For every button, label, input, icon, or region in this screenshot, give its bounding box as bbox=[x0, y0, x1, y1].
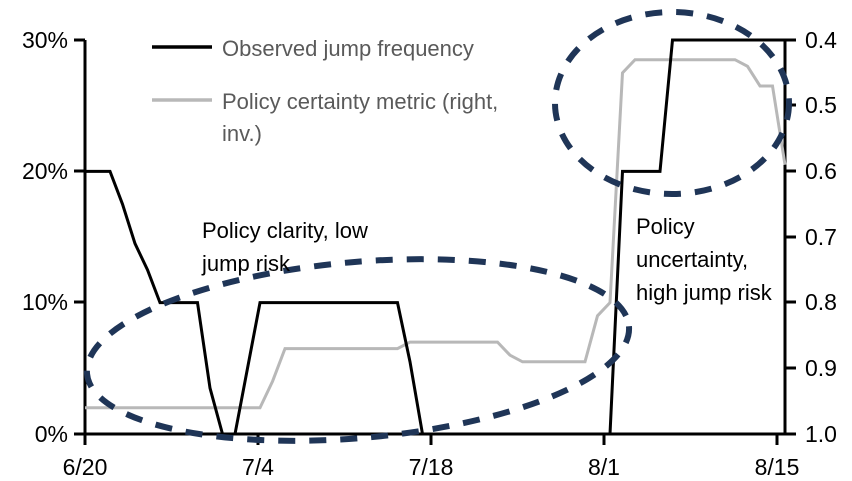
annotation-low-risk-line2: jump risk bbox=[201, 251, 291, 276]
legend-label-observed-jump-frequency: Observed jump frequency bbox=[222, 36, 474, 61]
left-axis-label-30: 30% bbox=[22, 27, 68, 53]
right-axis-label-4: 0.8 bbox=[805, 289, 837, 315]
left-axis-label-10: 10% bbox=[22, 289, 68, 315]
line-chart: 30% 20% 10% 0% 6/20 7/4 7/18 8/1 8/15 bbox=[0, 0, 852, 481]
x-axis-label-2: 7/18 bbox=[409, 454, 454, 480]
right-axis-label-0: 0.4 bbox=[805, 27, 837, 53]
chart-container: 30% 20% 10% 0% 6/20 7/4 7/18 8/1 8/15 bbox=[0, 0, 852, 481]
annotation-low-risk-line1: Policy clarity, low bbox=[202, 218, 368, 243]
annotation-high-risk-line1: Policy bbox=[636, 214, 695, 239]
right-axis-label-3: 0.7 bbox=[805, 224, 837, 250]
legend-label-policy-certainty-line2: inv.) bbox=[222, 121, 262, 146]
x-axis-label-4: 8/15 bbox=[755, 454, 800, 480]
right-axis-label-2: 0.6 bbox=[805, 158, 837, 184]
right-axis-label-5: 0.9 bbox=[805, 355, 837, 381]
annotation-high-risk-line3: high jump risk bbox=[636, 280, 773, 305]
right-axis-label-6: 1.0 bbox=[805, 421, 837, 447]
x-axis-label-3: 8/1 bbox=[588, 454, 620, 480]
legend-label-policy-certainty-line1: Policy certainty metric (right, bbox=[222, 89, 498, 114]
x-axis-label-0: 6/20 bbox=[63, 454, 108, 480]
x-axis-label-1: 7/4 bbox=[242, 454, 274, 480]
right-axis-label-1: 0.5 bbox=[805, 92, 837, 118]
annotation-high-risk-line2: uncertainty, bbox=[636, 247, 748, 272]
left-axis-label-0: 0% bbox=[35, 421, 68, 447]
left-axis-label-20: 20% bbox=[22, 158, 68, 184]
